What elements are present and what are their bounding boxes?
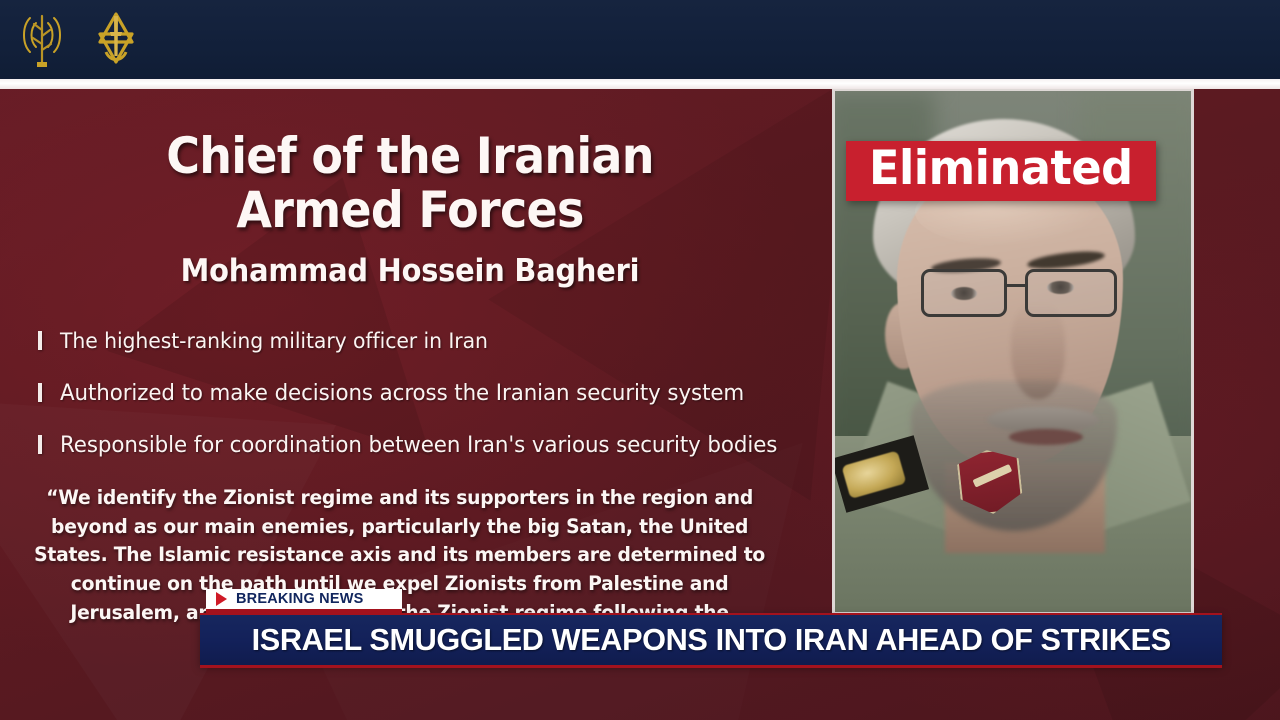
list-item-label: Authorized to make decisions across the … <box>60 380 744 406</box>
list-item-label: The highest-ranking military officer in … <box>60 329 488 354</box>
glasses-lens-left <box>921 269 1007 317</box>
title-block: Chief of the Iranian Armed Forces Mohamm… <box>30 129 790 289</box>
play-triangle-icon <box>216 592 227 606</box>
glasses-lens-right <box>1025 269 1117 317</box>
header-divider <box>0 79 1280 89</box>
list-item-label: Responsible for coordination between Ira… <box>60 432 777 458</box>
bullet-marker-icon <box>38 331 42 350</box>
antenna-icon-svg <box>10 6 74 72</box>
list-item: The highest-ranking military officer in … <box>38 329 820 354</box>
idf-star-sword-icon <box>84 6 148 72</box>
bullet-marker-icon <box>38 383 42 402</box>
news-headline-text: ISRAEL SMUGGLED WEAPONS INTO IRAN AHEAD … <box>251 622 1170 658</box>
breaking-news-label: BREAKING NEWS <box>206 589 402 613</box>
broadcast-slide: Chief of the Iranian Armed Forces Mohamm… <box>0 0 1280 720</box>
glasses-bridge <box>1005 284 1027 287</box>
glasses-icon <box>921 269 1117 323</box>
headline-underline <box>200 665 1222 668</box>
breaking-news-label-text: BREAKING NEWS <box>236 591 363 607</box>
status-badge-label: Eliminated <box>869 145 1133 193</box>
page-title-line-2: Armed Forces <box>60 183 759 237</box>
header-bar <box>0 0 1280 79</box>
status-badge: Eliminated <box>846 141 1156 201</box>
idf-insignia-emblem-icon <box>84 6 148 72</box>
list-item: Responsible for coordination between Ira… <box>38 432 820 458</box>
bullet-list: The highest-ranking military officer in … <box>30 329 820 458</box>
bullet-marker-icon <box>38 435 42 454</box>
news-headline-bar: ISRAEL SMUGGLED WEAPONS INTO IRAN AHEAD … <box>200 613 1222 665</box>
idf-broadcast-antenna-emblem-icon <box>10 6 74 72</box>
header-logo-group <box>10 6 148 72</box>
list-item: Authorized to make decisions across the … <box>38 380 820 406</box>
page-title-line-1: Chief of the Iranian <box>60 129 759 183</box>
page-title: Chief of the Iranian Armed Forces <box>60 129 759 237</box>
slide-text-column: Chief of the Iranian Armed Forces Mohamm… <box>30 129 820 656</box>
mouth <box>1009 429 1083 445</box>
subject-name: Mohammad Hossein Bagheri <box>57 253 764 289</box>
